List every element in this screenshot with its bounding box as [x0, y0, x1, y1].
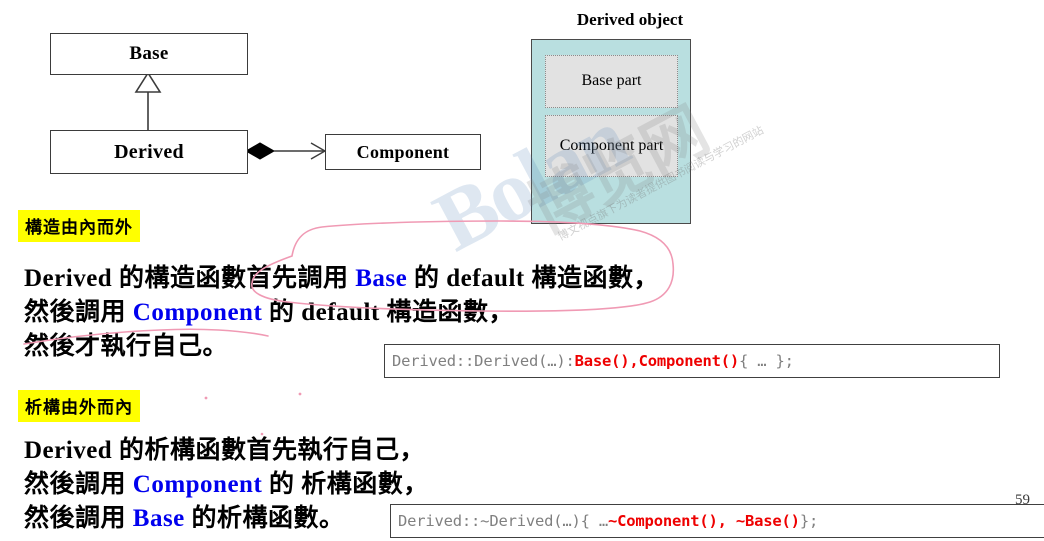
text-run: 然後調用 [24, 505, 133, 532]
uml-class-derived: Derived [50, 130, 248, 174]
section-label-construction: 構造由內而外 [18, 210, 140, 242]
construction-text-line-3: 然後才執行自己。 [24, 326, 228, 362]
slide-number: 59 [1015, 492, 1030, 509]
keyword-component: Component [133, 471, 263, 498]
text-run: 的析構函數首先執行自己， [119, 437, 425, 464]
destruction-text-line-3: 然後調用 Base 的析構函數。 [24, 498, 345, 534]
keyword-base: Base [355, 265, 407, 292]
section-label-destruction: 析構由外而內 [18, 390, 140, 422]
destruction-text-line-1: Derived 的析構函數首先執行自己， [24, 430, 425, 466]
text-run: 然後調用 [24, 471, 133, 498]
code-suffix: { … }; [739, 352, 794, 370]
uml-class-component: Component [325, 134, 481, 170]
code-highlight: ~Component(), ~Base() [608, 512, 800, 530]
text-run: 然後調用 [24, 299, 133, 326]
text-run: Derived [24, 265, 119, 292]
code-suffix: }; [800, 512, 818, 530]
keyword-base: Base [133, 505, 185, 532]
derived-object-title: Derived object [540, 10, 720, 30]
text-run: 的析構函數。 [185, 505, 345, 532]
code-prefix: Derived::~Derived(…){ … [398, 512, 608, 530]
destructor-code-box: Derived::~Derived(…){ … ~Component(), ~B… [390, 504, 1044, 538]
text-run: 的 default 構造函數， [262, 299, 514, 326]
construction-text-line-1: Derived 的構造函數首先調用 Base 的 default 構造函數， [24, 258, 659, 294]
object-part-base: Base part [545, 55, 678, 108]
slide-canvas: Base Derived Component Derived object Ba… [0, 0, 1044, 541]
keyword-component: Component [133, 299, 263, 326]
code-highlight: Base(),Component() [575, 352, 739, 370]
text-run: 的 default 構造函數， [407, 265, 659, 292]
constructor-code-box: Derived::Derived(…): Base(),Component() … [384, 344, 1000, 378]
uml-class-base: Base [50, 33, 248, 75]
construction-text-line-2: 然後調用 Component 的 default 構造函數， [24, 292, 514, 328]
code-prefix: Derived::Derived(…): [392, 352, 575, 370]
object-part-component: Component part [545, 115, 678, 177]
text-run: 的 析構函數， [262, 471, 429, 498]
destruction-text-line-2: 然後調用 Component 的 析構函數， [24, 464, 429, 500]
text-run: 的構造函數首先調用 [119, 265, 355, 292]
text-run: Derived [24, 437, 119, 464]
